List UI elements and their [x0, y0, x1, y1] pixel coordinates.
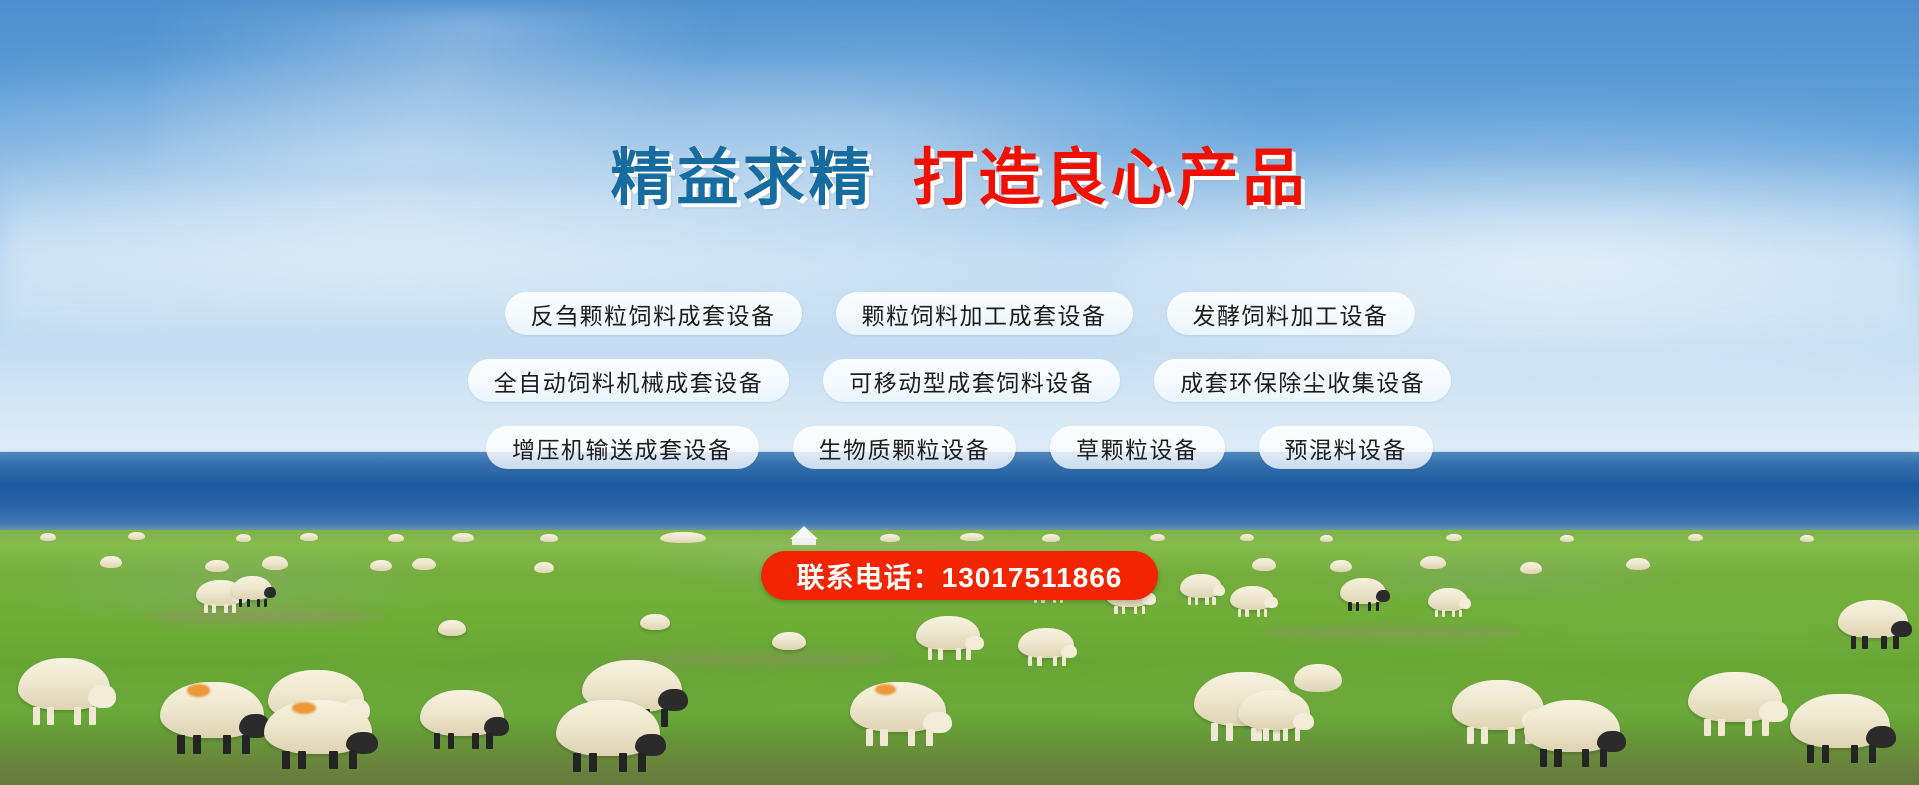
sheep-mid	[1330, 560, 1352, 572]
sheep-distant	[1560, 535, 1574, 542]
product-pill-booster-conveying-equipment[interactable]: 增压机输送成套设备	[486, 426, 759, 469]
product-row-1: 反刍颗粒饲料成套设备 颗粒饲料加工成套设备 发酵饲料加工设备	[505, 292, 1415, 335]
sheep-foreground	[772, 632, 806, 650]
livestock-distant	[128, 532, 145, 540]
sheep-mid	[412, 558, 436, 570]
sheep-foreground	[438, 620, 466, 636]
livestock-distant	[452, 533, 474, 542]
product-pill-pellet-feed-processing[interactable]: 颗粒饲料加工成套设备	[836, 292, 1133, 335]
sheep-mid	[534, 562, 554, 573]
sheep	[1180, 574, 1222, 598]
sheep	[1340, 578, 1386, 604]
dirt-patch	[1260, 626, 1520, 640]
product-pill-biomass-pellet-equipment[interactable]: 生物质颗粒设备	[793, 426, 1017, 469]
sheep-mid	[1626, 558, 1650, 570]
sheep-mid	[370, 560, 392, 571]
sheep-distant	[1446, 534, 1462, 541]
product-pill-fermented-feed-processing[interactable]: 发酵饲料加工设备	[1167, 292, 1415, 335]
headline-red-text: 打造良心产品	[913, 144, 1309, 213]
sheep-foreground	[556, 700, 660, 756]
sheep-foreground	[916, 616, 980, 650]
sheep-distant	[1320, 535, 1333, 542]
sheep-mid	[1252, 558, 1276, 571]
livestock-distant	[880, 534, 900, 542]
sheep-foreground	[1790, 694, 1890, 748]
sheep-foreground	[850, 682, 946, 732]
sheep-mid	[205, 560, 229, 572]
livestock-distant	[1042, 534, 1060, 542]
sheep-distant	[1800, 535, 1814, 542]
livestock-distant	[236, 534, 251, 542]
product-row-3: 增压机输送成套设备 生物质颗粒设备 草颗粒设备 预混料设备	[486, 426, 1433, 469]
sheep-foreground	[1238, 690, 1310, 730]
sheep-mid	[1420, 556, 1446, 569]
product-pill-dust-collection-equipment[interactable]: 成套环保除尘收集设备	[1154, 359, 1451, 402]
contact-phone-badge[interactable]: 联系电话：13017511866	[761, 551, 1159, 600]
sheep-foreground	[1294, 664, 1342, 692]
sheep-foreground	[1018, 628, 1074, 658]
product-category-list: 反刍颗粒饲料成套设备 颗粒饲料加工成套设备 发酵饲料加工设备 全自动饲料机械成套…	[0, 292, 1919, 469]
sheep-foreground	[640, 614, 670, 630]
sheep-foreground	[18, 658, 110, 710]
product-pill-ruminant-pellet-feed[interactable]: 反刍颗粒饲料成套设备	[505, 292, 802, 335]
dirt-patch	[150, 608, 380, 624]
sheep-foreground	[160, 682, 264, 738]
sheep-distant	[1240, 534, 1254, 541]
livestock-distant	[660, 532, 706, 543]
headline: 精益求精打造良心产品	[0, 148, 1919, 210]
sheep-distant	[1150, 534, 1165, 541]
sheep-foreground	[1524, 700, 1620, 752]
product-pill-mobile-feed-equipment[interactable]: 可移动型成套饲料设备	[823, 359, 1120, 402]
product-pill-grass-pellet-equipment[interactable]: 草颗粒设备	[1050, 426, 1225, 469]
livestock-distant	[40, 533, 56, 541]
promotional-banner: 精益求精打造良心产品 反刍颗粒饲料成套设备 颗粒饲料加工成套设备 发酵饲料加工设…	[0, 0, 1919, 785]
product-pill-premix-equipment[interactable]: 预混料设备	[1259, 426, 1434, 469]
livestock-distant	[960, 533, 984, 541]
product-row-2: 全自动饲料机械成套设备 可移动型成套饲料设备 成套环保除尘收集设备	[468, 359, 1452, 402]
headline-blue-text: 精益求精	[610, 144, 874, 213]
product-pill-automatic-feed-machinery[interactable]: 全自动饲料机械成套设备	[468, 359, 790, 402]
sheep-mid	[1520, 562, 1542, 574]
sheep-mid	[100, 556, 122, 568]
livestock-distant	[540, 534, 558, 542]
yurt-base	[792, 538, 816, 545]
sheep	[1230, 586, 1274, 610]
sheep-foreground	[1838, 600, 1908, 638]
sheep-foreground	[420, 690, 504, 736]
livestock-distant	[388, 534, 404, 542]
sheep	[1428, 588, 1468, 611]
sheep	[232, 576, 272, 600]
sheep-mid	[262, 556, 288, 570]
livestock-distant	[300, 533, 318, 541]
sheep-distant	[1688, 534, 1703, 541]
sheep-foreground	[1688, 672, 1782, 722]
sheep-foreground	[264, 700, 372, 754]
